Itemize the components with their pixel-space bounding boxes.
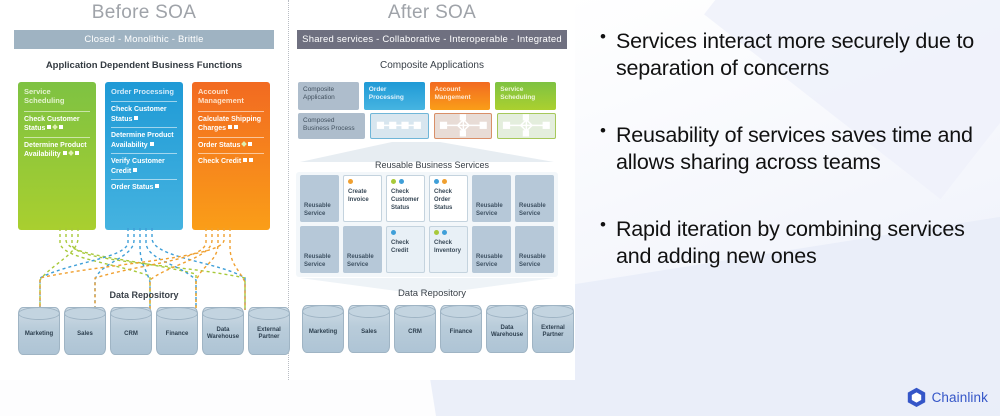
status-dot-icon xyxy=(434,179,439,184)
function-row: Order Status xyxy=(198,137,264,153)
status-dot-icon xyxy=(442,230,447,235)
function-row: Check Credit xyxy=(198,153,264,169)
function-row: Order Status xyxy=(111,179,177,195)
service-tile-check-order-status: Check Order Status xyxy=(429,175,468,222)
before-soa-banner: Closed - Monolithic - Brittle xyxy=(14,30,274,49)
process-flow-linear-icon xyxy=(370,113,429,139)
service-label: Check Customer Status xyxy=(391,189,420,212)
bullet-dot-icon: • xyxy=(600,122,606,176)
service-dots xyxy=(391,179,420,187)
funnel-connector xyxy=(300,142,554,162)
composed-business-process-row: Composed Business Process xyxy=(298,113,556,139)
function-row: Check Customer Status xyxy=(111,101,177,127)
composite-order-processing: Order Processing xyxy=(364,82,425,110)
marker-diamond-icon xyxy=(68,150,74,156)
function-row: Determine Product Availability xyxy=(24,137,90,163)
database-cylinder: Sales xyxy=(64,307,106,355)
function-label: Order Status xyxy=(111,184,153,191)
service-label: Reusable Service xyxy=(304,254,335,270)
function-label: Determine Product Availability xyxy=(24,142,87,158)
marker-square-icon xyxy=(75,151,79,155)
service-tile: Reusable Service xyxy=(300,226,339,273)
database-label: Marketing xyxy=(309,323,337,336)
service-label: Reusable Service xyxy=(519,254,550,270)
composite-service-scheduling: Service Scheduling xyxy=(495,82,556,110)
service-dots xyxy=(434,179,463,187)
after-section-title: Composite Applications xyxy=(289,60,575,71)
service-tile: Reusable Service xyxy=(472,175,511,222)
marker-square-icon xyxy=(47,125,51,129)
service-tile: Reusable Service xyxy=(300,175,339,222)
chainlink-hexagon-icon xyxy=(907,387,926,408)
service-label: Reusable Service xyxy=(304,203,335,219)
after-soa-title: After SOA xyxy=(289,2,575,24)
database-cylinder: Data Warehouse xyxy=(486,305,528,353)
marker-square-icon xyxy=(243,158,247,162)
service-label: Check Credit xyxy=(391,240,420,256)
database-cylinder: External Partner xyxy=(248,307,290,355)
database-cylinder: Marketing xyxy=(302,305,344,353)
reusable-services-grid: Reusable Service Create Invoice Check Cu… xyxy=(300,175,554,273)
composite-account-management: Account Mangement xyxy=(430,82,491,110)
process-flow-branching-icon xyxy=(434,113,493,139)
database-label: CRM xyxy=(124,325,138,338)
service-tile-create-invoice: Create Invoice xyxy=(343,175,382,222)
marker-diamond-icon xyxy=(53,124,59,130)
app-card-account-management: Account Management Calculate Shipping Ch… xyxy=(192,82,270,230)
marker-square-icon xyxy=(155,184,159,188)
after-repository-label: Data Repository xyxy=(289,288,575,299)
database-cylinder: External Partner xyxy=(532,305,574,353)
function-row: Determine Product Availability xyxy=(111,127,177,153)
service-tile: Reusable Service xyxy=(515,226,554,273)
before-soa-column: Before SOA Closed - Monolithic - Brittle… xyxy=(0,0,288,71)
database-label: Sales xyxy=(77,325,93,338)
composite-application-row-label: Composite Application xyxy=(298,82,359,110)
database-label: Marketing xyxy=(25,325,53,338)
status-dot-icon xyxy=(442,179,447,184)
database-cylinder: Data Warehouse xyxy=(202,307,244,355)
after-data-repositories: Marketing Sales CRM Finance Data Warehou… xyxy=(302,305,574,353)
database-cylinder: CRM xyxy=(394,305,436,353)
bullet-item: • Rapid iteration by combining services … xyxy=(600,216,995,270)
service-label: Reusable Service xyxy=(347,254,378,270)
slide: Before SOA Closed - Monolithic - Brittle… xyxy=(0,0,1000,416)
service-tile-check-inventory: Check Inventory xyxy=(429,226,468,273)
marker-square-icon xyxy=(63,151,67,155)
service-dots xyxy=(348,179,377,187)
app-card-order-processing: Order Processing Check Customer Status D… xyxy=(105,82,183,230)
function-row: Calculate Shipping Charges xyxy=(198,111,264,137)
app-card-title: Order Processing xyxy=(111,87,177,96)
after-soa-banner: Shared services - Collaborative - Intero… xyxy=(297,30,567,49)
service-label: Check Order Status xyxy=(434,189,463,212)
before-repository-label: Data Repository xyxy=(0,290,288,300)
service-label: Reusable Service xyxy=(519,203,550,219)
database-label: External Partner xyxy=(249,321,289,341)
before-section-title: Application Dependent Business Functions xyxy=(0,60,288,71)
reusable-services-title: Reusable Business Services xyxy=(289,160,575,170)
marker-diamond-icon xyxy=(242,141,248,147)
application-cards: Service Scheduling Check Customer Status… xyxy=(18,82,270,230)
service-label: Check Inventory xyxy=(434,240,463,256)
database-label: Sales xyxy=(361,323,377,336)
composed-business-process-label: Composed Business Process xyxy=(298,113,365,139)
status-dot-icon xyxy=(391,230,396,235)
database-label: External Partner xyxy=(533,319,573,339)
bullet-text: Reusability of services saves time and a… xyxy=(616,122,995,176)
marker-square-icon xyxy=(134,116,138,120)
marker-square-icon xyxy=(59,125,63,129)
chainlink-logo: Chainlink xyxy=(907,387,988,408)
function-label: Check Customer Status xyxy=(24,116,80,132)
marker-square-icon xyxy=(133,168,137,172)
marker-square-icon xyxy=(248,142,252,146)
service-dots xyxy=(434,230,463,238)
function-label: Check Customer Status xyxy=(111,106,167,122)
service-tile: Reusable Service xyxy=(472,226,511,273)
function-label: Order Status xyxy=(198,142,240,149)
bullet-list: • Services interact more securely due to… xyxy=(600,28,995,310)
status-dot-icon xyxy=(399,179,404,184)
service-label: Reusable Service xyxy=(476,254,507,270)
marker-square-icon xyxy=(228,125,232,129)
database-cylinder: Marketing xyxy=(18,307,60,355)
function-label: Calculate Shipping Charges xyxy=(198,116,261,132)
app-card-service-scheduling: Service Scheduling Check Customer Status… xyxy=(18,82,96,230)
service-tile-check-credit: Check Credit xyxy=(386,226,425,273)
status-dot-icon xyxy=(434,230,439,235)
bullet-text: Rapid iteration by combining services an… xyxy=(616,216,995,270)
database-cylinder: Finance xyxy=(440,305,482,353)
database-label: Data Warehouse xyxy=(487,319,527,339)
before-soa-title: Before SOA xyxy=(0,2,288,24)
composite-applications-row: Composite Application Order Processing A… xyxy=(298,82,556,110)
bullet-item: • Reusability of services saves time and… xyxy=(600,122,995,176)
service-tile: Reusable Service xyxy=(515,175,554,222)
app-card-title: Account Management xyxy=(198,87,264,106)
database-label: Finance xyxy=(166,325,189,338)
chainlink-logo-text: Chainlink xyxy=(932,390,988,405)
function-label: Verify Customer Credit xyxy=(111,158,165,174)
process-flow-branching-icon xyxy=(497,113,556,139)
service-tile: Reusable Service xyxy=(343,226,382,273)
database-cylinder: CRM xyxy=(110,307,152,355)
bullet-text: Services interact more securely due to s… xyxy=(616,28,995,82)
app-card-title: Service Scheduling xyxy=(24,87,90,106)
service-dots xyxy=(391,230,420,238)
marker-square-icon xyxy=(249,158,253,162)
bullet-item: • Services interact more securely due to… xyxy=(600,28,995,82)
marker-square-icon xyxy=(234,125,238,129)
function-row: Verify Customer Credit xyxy=(111,153,177,179)
database-cylinder: Finance xyxy=(156,307,198,355)
function-row: Check Customer Status xyxy=(24,111,90,137)
service-label: Create Invoice xyxy=(348,189,377,205)
soa-comparison-diagram: Before SOA Closed - Monolithic - Brittle… xyxy=(0,0,575,380)
service-label: Reusable Service xyxy=(476,203,507,219)
status-dot-icon xyxy=(391,179,396,184)
after-soa-column: After SOA Shared services - Collaborativ… xyxy=(289,0,575,71)
database-cylinder: Sales xyxy=(348,305,390,353)
service-tile-check-customer-status: Check Customer Status xyxy=(386,175,425,222)
function-label: Check Credit xyxy=(198,158,241,165)
status-dot-icon xyxy=(348,179,353,184)
database-label: Finance xyxy=(450,323,473,336)
function-label: Determine Product Availability xyxy=(111,132,174,148)
marker-square-icon xyxy=(150,142,154,146)
database-label: CRM xyxy=(408,323,422,336)
before-data-repositories: Marketing Sales CRM Finance Data Warehou… xyxy=(18,307,290,355)
bullet-dot-icon: • xyxy=(600,216,606,270)
bullet-dot-icon: • xyxy=(600,28,606,82)
database-label: Data Warehouse xyxy=(203,321,243,341)
